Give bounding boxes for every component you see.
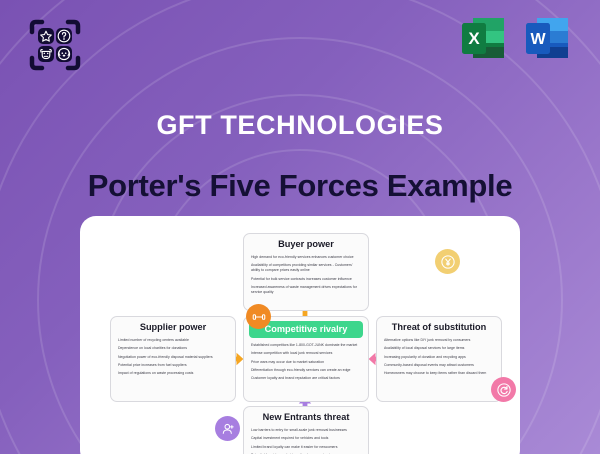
list-item: Increased awareness of waste management …	[251, 285, 361, 295]
excel-icon[interactable]: X	[458, 14, 508, 64]
list-item: Homeowners may choose to keep items rath…	[384, 371, 494, 376]
coin-badge[interactable]	[435, 249, 460, 274]
list-item: Limited number of recycling centers avai…	[118, 338, 228, 343]
list-item: Community-based disposal events may attr…	[384, 363, 494, 368]
force-bullet-list: Low barriers to entry for small-scale ju…	[251, 428, 361, 454]
list-item: Low barriers to entry for small-scale ju…	[251, 428, 361, 433]
refresh-cycle-icon	[497, 383, 511, 397]
force-bullet-list: Limited number of recycling centers avai…	[118, 338, 228, 376]
list-item: Capital investment required for vehicles…	[251, 436, 361, 441]
list-item: Alternative options like DIY junk remova…	[384, 338, 494, 343]
force-bullet-list: High demand for eco-friendly services en…	[251, 255, 361, 295]
list-item: Established competitors like 1-800-GOT-J…	[251, 343, 361, 348]
force-box-competitive-rivalry[interactable]: Competitive rivalry Established competit…	[243, 316, 369, 402]
coin-icon	[441, 255, 455, 269]
list-item: Increasing popularity of donation and re…	[384, 355, 494, 360]
diagram-card: Buyer power High demand for eco-friendly…	[80, 216, 520, 454]
word-icon[interactable]: W	[522, 14, 572, 64]
user-badge[interactable]	[215, 416, 240, 441]
force-title: New Entrants threat	[251, 412, 361, 423]
force-title: Threat of substitution	[384, 322, 494, 333]
four-tile-grid-icon	[24, 14, 86, 76]
force-title: Buyer power	[251, 239, 361, 250]
brand-title: GFT TECHNOLOGIES	[0, 110, 600, 141]
list-item: Impact of regulations on waste processin…	[118, 371, 228, 376]
svg-text:W: W	[530, 31, 546, 48]
list-item: Negotiation power of eco-friendly dispos…	[118, 355, 228, 360]
page-title: Porter's Five Forces Example	[0, 168, 600, 204]
force-bullet-list: Alternative options like DIY junk remova…	[384, 338, 494, 376]
recycle-badge[interactable]	[491, 377, 516, 402]
force-bullet-list: Established competitors like 1-800-GOT-J…	[251, 343, 361, 381]
add-user-icon	[221, 422, 235, 436]
list-item: Price wars may occur due to market satur…	[251, 360, 361, 365]
list-item: Availability of competitors providing si…	[251, 263, 361, 273]
weight-badge[interactable]	[246, 304, 271, 329]
list-item: Potential price increases from fuel supp…	[118, 363, 228, 368]
list-item: Customer loyalty and brand reputation ar…	[251, 376, 361, 381]
force-box-threat-of-substitution[interactable]: Threat of substitution Alternative optio…	[376, 316, 502, 402]
office-app-icons: X W	[458, 14, 572, 64]
force-box-buyer-power[interactable]: Buyer power High demand for eco-friendly…	[243, 233, 369, 311]
force-title: Supplier power	[118, 322, 228, 333]
list-item: High demand for eco-friendly services en…	[251, 255, 361, 260]
list-item: Differentiation through eco-friendly ser…	[251, 368, 361, 373]
list-item: Limited brand loyalty can make it easier…	[251, 445, 361, 450]
slide-canvas: X W GFT TECHNOLOGIES Porter's Five Force…	[0, 0, 600, 454]
force-box-supplier-power[interactable]: Supplier power Limited number of recycli…	[110, 316, 236, 402]
list-item: Dependence on local charities for donati…	[118, 346, 228, 351]
list-item: Potential for bulk service contracts inc…	[251, 277, 361, 282]
list-item: Intense competition with local junk remo…	[251, 351, 361, 356]
list-item: Availability of local disposal services …	[384, 346, 494, 351]
svg-text:X: X	[468, 29, 480, 48]
dumbbell-icon	[252, 310, 266, 324]
force-box-new-entrants-threat[interactable]: New Entrants threat Low barriers to entr…	[243, 406, 369, 454]
